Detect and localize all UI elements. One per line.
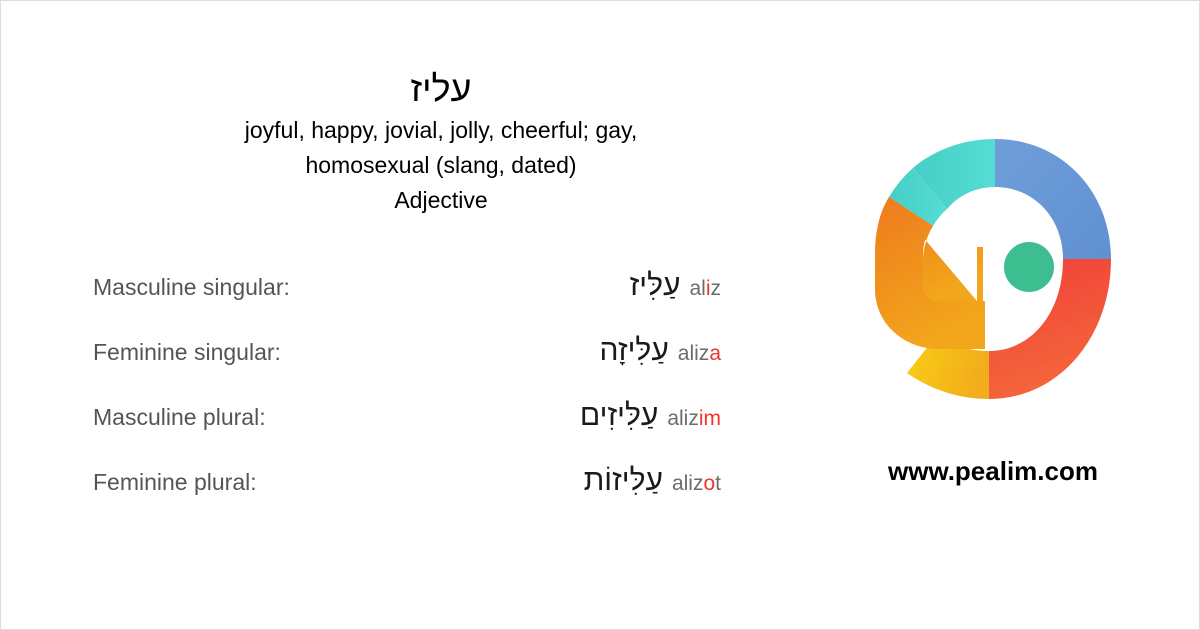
- hebrew-form-feminine-plural: עַלִּיזוֹת: [584, 464, 663, 498]
- transliteration-masculine-plural: alizim: [667, 407, 721, 431]
- logo-dot-icon: [1004, 242, 1054, 292]
- site-url-label: www.pealim.com: [813, 456, 1173, 487]
- pealim-logo-icon: [873, 137, 1113, 401]
- translit-stress: a: [709, 342, 721, 365]
- translit-post: t: [715, 472, 721, 495]
- table-row: Masculine plural: עַלִּיזִיםalizim: [61, 399, 733, 464]
- form-label-feminine-plural: Feminine plural:: [61, 469, 361, 496]
- word-header: עליז joyful, happy, jovial, jolly, cheer…: [141, 67, 741, 218]
- translit-post: z: [711, 277, 722, 300]
- translit-pre: al: [689, 277, 705, 300]
- form-label-masculine-plural: Masculine plural:: [61, 404, 361, 431]
- translit-pre: aliz: [678, 342, 710, 365]
- translit-pre: aliz: [667, 407, 699, 430]
- translit-pre: aliz: [672, 472, 704, 495]
- hebrew-form-feminine-singular: עַלִּיזָה: [600, 334, 669, 368]
- transliteration-masculine-singular: aliz: [689, 277, 721, 301]
- form-value-feminine-plural: עַלִּיזוֹתalizot: [361, 464, 733, 498]
- hebrew-form-masculine-plural: עַלִּיזִים: [580, 399, 658, 433]
- form-value-masculine-singular: עַלִּיזaliz: [361, 269, 733, 303]
- translit-stress: im: [699, 407, 721, 430]
- word-meaning: joyful, happy, jovial, jolly, cheerful; …: [141, 113, 741, 183]
- table-row: Masculine singular: עַלִּיזaliz: [61, 269, 733, 334]
- table-row: Feminine singular: עַלִּיזָהaliza: [61, 334, 733, 399]
- form-label-masculine-singular: Masculine singular:: [61, 274, 361, 301]
- form-value-feminine-singular: עַלִּיזָהaliza: [361, 334, 733, 368]
- logo-segment-blue: [995, 139, 1111, 259]
- pealim-word-card: עליז joyful, happy, jovial, jolly, cheer…: [0, 0, 1200, 630]
- form-value-masculine-plural: עַלִּיזִיםalizim: [361, 399, 733, 433]
- form-label-feminine-singular: Feminine singular:: [61, 339, 361, 366]
- table-row: Feminine plural: עַלִּיזוֹתalizot: [61, 464, 733, 529]
- inflection-table: Masculine singular: עַלִּיזaliz Feminine…: [61, 269, 733, 529]
- page-title: עליז: [141, 67, 741, 111]
- hebrew-form-masculine-singular: עַלִּיז: [630, 269, 681, 303]
- part-of-speech: Adjective: [141, 183, 741, 218]
- transliteration-feminine-singular: aliza: [678, 342, 721, 366]
- transliteration-feminine-plural: alizot: [672, 472, 721, 496]
- translit-stress: o: [703, 472, 715, 495]
